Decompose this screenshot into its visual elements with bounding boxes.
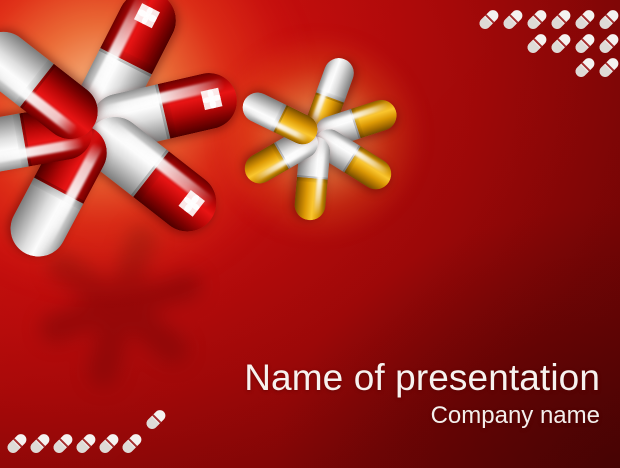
- company-name[interactable]: Company name: [180, 401, 600, 430]
- title-text-block: Name of presentation Company name: [180, 356, 600, 430]
- presentation-title[interactable]: Name of presentation: [180, 356, 600, 400]
- presentation-slide: Name of presentation Company name: [0, 0, 620, 468]
